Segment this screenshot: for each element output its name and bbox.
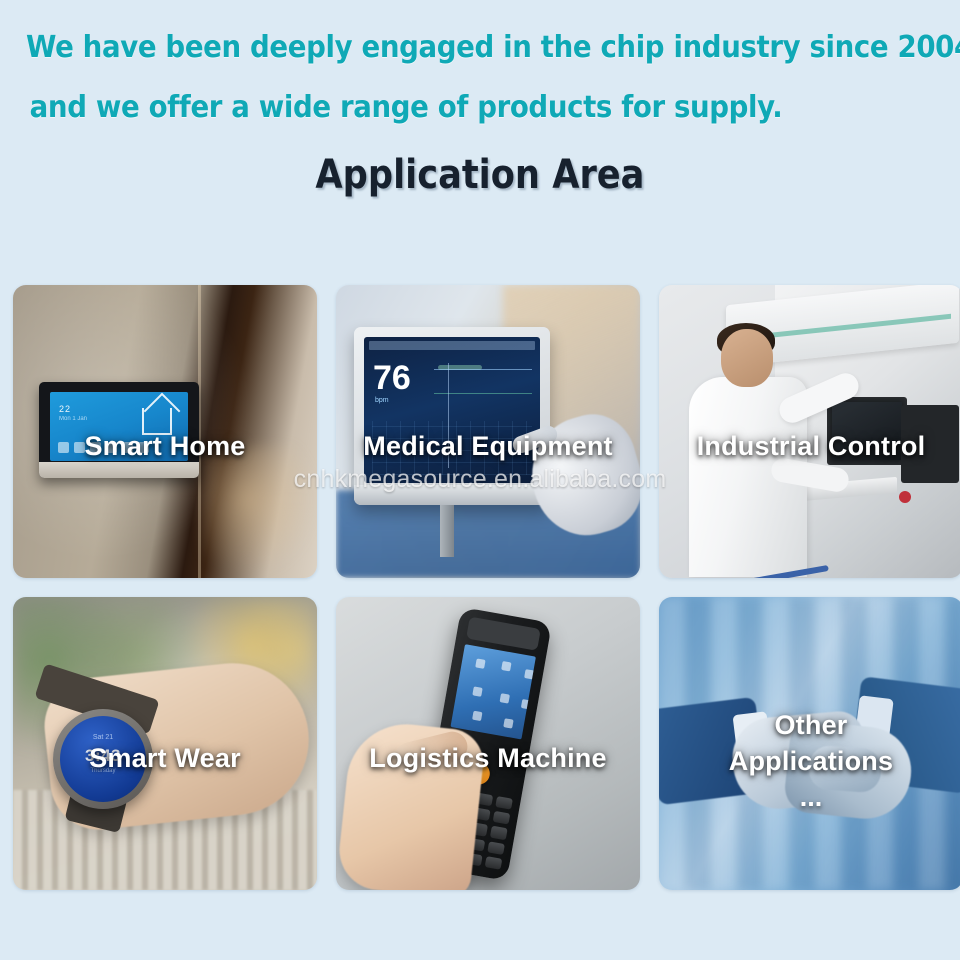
card-logistics-machine[interactable]: Logistics Machine	[336, 597, 640, 890]
industrial-scene	[659, 285, 960, 578]
panel-base	[39, 462, 199, 478]
panel-icon-4	[106, 442, 117, 453]
card-other-applications[interactable]: Other Applications ...	[659, 597, 960, 890]
panel-icon-5	[122, 442, 133, 453]
application-card-grid: 22 Mon 1 Jan	[13, 285, 947, 890]
watch-time: 3:43	[60, 746, 146, 766]
panel-icon-2	[74, 442, 85, 453]
scanner-screen-icon-2	[501, 661, 511, 671]
keypad-key	[490, 826, 508, 840]
medical-scene: 76 bpm	[336, 285, 640, 578]
scanner-screen-icon-8	[503, 718, 513, 728]
monitor-grid	[372, 421, 532, 475]
card-smart-home[interactable]: 22 Mon 1 Jan	[13, 285, 317, 578]
application-area-banner: We have been deeply engaged in the chip …	[0, 0, 960, 960]
machine-monitor-screen	[832, 402, 902, 460]
patient-monitor: 76 bpm	[354, 327, 550, 505]
machine-red-button	[899, 491, 911, 503]
background-bokeh	[201, 446, 317, 578]
section-title-text: Application Area	[315, 152, 644, 198]
card-label-other-applications-dots: ...	[659, 782, 960, 813]
scanner-screen-icon-6	[521, 699, 531, 709]
scanner-screen-icon-3	[524, 669, 534, 679]
keypad-key	[495, 796, 513, 810]
panel-icon-1	[58, 442, 69, 453]
panel-icon-6	[138, 442, 149, 453]
card-medical-equipment[interactable]: 76 bpm Medical Equipment	[336, 285, 640, 578]
monitor-base	[354, 485, 550, 505]
wall-control-panel: 22 Mon 1 Jan	[39, 382, 199, 478]
panel-app-icons	[58, 442, 149, 453]
handshake-scene	[659, 597, 960, 890]
card-industrial-control[interactable]: Industrial Control	[659, 285, 960, 578]
panel-temperature: 22	[59, 404, 71, 414]
scanner-screen-icon-5	[500, 693, 510, 703]
panel-screen: 22 Mon 1 Jan	[50, 392, 188, 461]
monitor-stand	[440, 505, 454, 557]
monitor-value: 76	[373, 361, 411, 395]
monitor-screen: 76 bpm	[364, 337, 540, 483]
technician-head	[721, 329, 773, 387]
logistics-scene	[336, 597, 640, 890]
panel-icon-3	[90, 442, 101, 453]
panel-date: Mon 1 Jan	[59, 416, 87, 422]
monitor-topbar	[369, 341, 535, 350]
smart-wear-scene: Sat 21 3:43 Thursday	[13, 597, 317, 890]
watch-face: Sat 21 3:43 Thursday	[60, 716, 146, 802]
machine-monitor	[827, 397, 907, 465]
scanner-screen-icon-4	[472, 686, 482, 696]
headline-block: We have been deeply engaged in the chip …	[0, 18, 960, 138]
card-smart-wear[interactable]: Sat 21 3:43 Thursday Smart Wear	[13, 597, 317, 890]
machine-monitor-secondary	[901, 405, 959, 483]
keypad-key	[493, 811, 511, 825]
headline-line-2: and we offer a wide range of products fo…	[26, 78, 861, 138]
scanner-screen-icon-7	[472, 711, 482, 721]
section-title: Application Area	[0, 152, 960, 198]
keypad-key	[487, 841, 505, 855]
smartwatch: Sat 21 3:43 Thursday	[53, 709, 153, 809]
watch-status: Thursday	[60, 768, 146, 774]
smart-home-scene: 22 Mon 1 Jan	[13, 285, 317, 578]
monitor-unit: bpm	[375, 397, 389, 404]
watch-date: Sat 21	[60, 734, 146, 741]
scanner-screen-icon-1	[475, 658, 485, 668]
headline-line-1: We have been deeply engaged in the chip …	[26, 18, 861, 78]
keypad-key	[485, 856, 503, 870]
scanner-screen	[450, 644, 535, 739]
